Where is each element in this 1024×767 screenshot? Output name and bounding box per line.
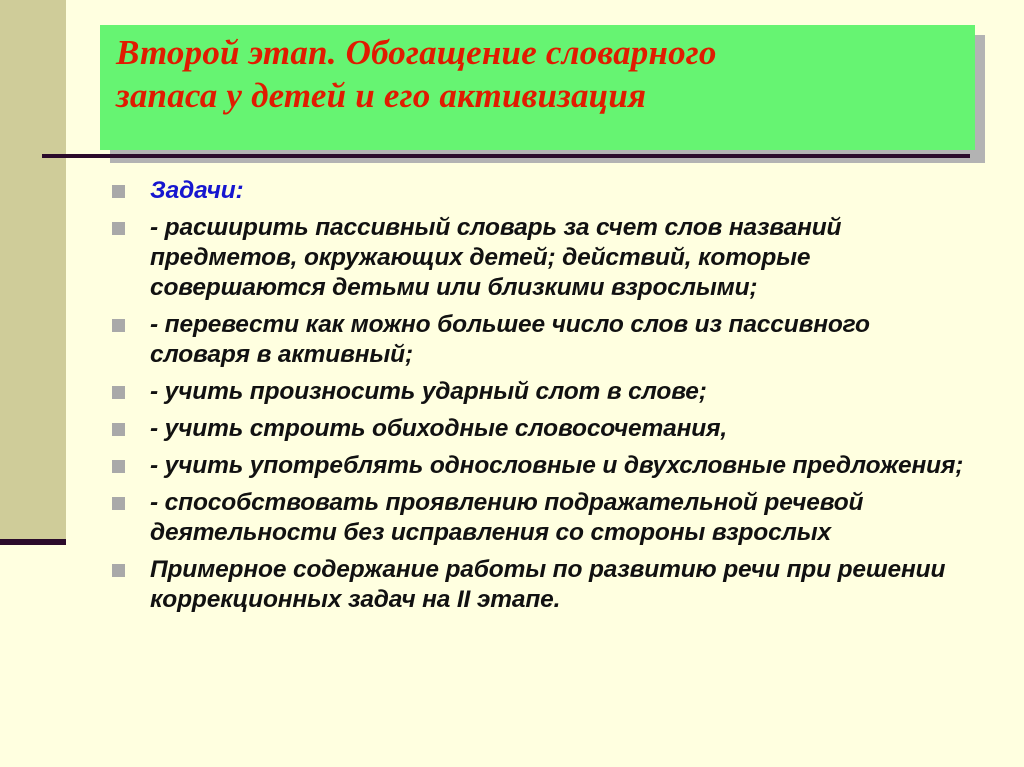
list-item-label: Примерное содержание работы по развитию … [150, 555, 972, 615]
list-item-label: - учить строить обиходные словосочетания… [150, 414, 972, 444]
left-band-bottom-rule [0, 539, 66, 545]
list-item-label: - способствовать проявлению подражательн… [150, 488, 972, 548]
list-item: - учить употреблять однословные и двухсл… [112, 451, 972, 481]
page-title-line-1: Второй этап. Обогащение словарного [116, 31, 717, 74]
page-title: Второй этап. Обогащение словарного запас… [116, 31, 717, 118]
list-item: - учить строить обиходные словосочетания… [112, 414, 972, 444]
title-box: Второй этап. Обогащение словарного запас… [100, 25, 975, 150]
square-bullet-icon [112, 497, 125, 510]
list-item: - расширить пассивный словарь за счет сл… [112, 213, 972, 303]
objectives-list: Задачи: - расширить пассивный словарь за… [112, 176, 972, 622]
square-bullet-icon [112, 222, 125, 235]
left-decorative-band [0, 0, 66, 545]
square-bullet-icon [112, 185, 125, 198]
square-bullet-icon [112, 564, 125, 577]
list-item-label: - учить произносить ударный слот в слове… [150, 377, 972, 407]
list-item: - учить произносить ударный слот в слове… [112, 377, 972, 407]
list-item: Примерное содержание работы по развитию … [112, 555, 972, 615]
list-item-label: - расширить пассивный словарь за счет сл… [150, 213, 972, 303]
title-underline-rule [42, 154, 970, 158]
list-item: - способствовать проявлению подражательн… [112, 488, 972, 548]
square-bullet-icon [112, 460, 125, 473]
list-item-label: Задачи: [150, 176, 972, 206]
slide-canvas: Второй этап. Обогащение словарного запас… [0, 0, 1024, 767]
list-item-label: - учить употреблять однословные и двухсл… [150, 451, 972, 481]
square-bullet-icon [112, 386, 125, 399]
page-title-line-2: запаса у детей и его активизация [116, 74, 717, 117]
square-bullet-icon [112, 423, 125, 436]
list-item-label: - перевести как можно большее число слов… [150, 310, 972, 370]
square-bullet-icon [112, 319, 125, 332]
list-item: - перевести как можно большее число слов… [112, 310, 972, 370]
list-item: Задачи: [112, 176, 972, 206]
